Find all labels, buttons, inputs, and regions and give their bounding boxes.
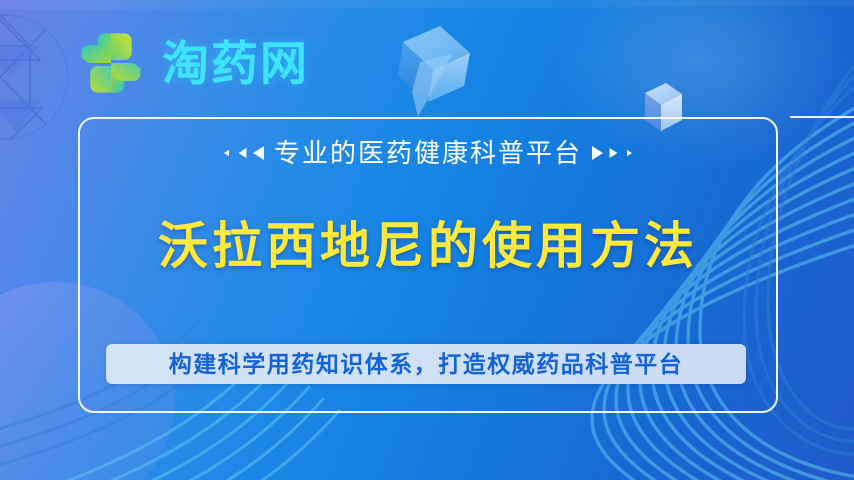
subtitle-text: 专业的医药健康科普平台 xyxy=(274,140,582,166)
cube-fin-decor xyxy=(412,54,452,117)
brand-name: 淘药网 xyxy=(162,40,309,87)
triangle-left-icon xyxy=(221,146,264,160)
banner-canvas: 淘药网 专业的医药健康科普平台 沃拉西地尼的使用方法 构建科学用药知识体系，打造… xyxy=(0,0,854,480)
cube-large-decor xyxy=(398,26,470,102)
pinwheel-cross-icon xyxy=(74,26,148,100)
triangle-mesh-decor xyxy=(0,0,68,150)
brand-logo[interactable]: 淘药网 xyxy=(74,26,309,100)
subtitle-row: 专业的医药健康科普平台 xyxy=(78,140,778,166)
tagline-text: 构建科学用药知识体系，打造权威药品科普平台 xyxy=(169,353,684,376)
frame-extension-line xyxy=(790,116,854,118)
tagline-bar: 构建科学用药知识体系，打造权威药品科普平台 xyxy=(106,344,746,384)
page-title: 沃拉西地尼的使用方法 xyxy=(78,218,778,274)
triangle-right-icon xyxy=(592,146,635,160)
